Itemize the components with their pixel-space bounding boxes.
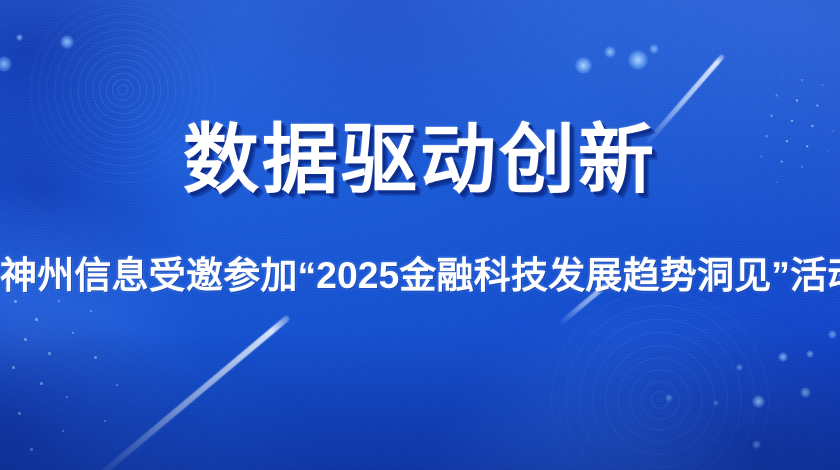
promo-banner: 数据驱动创新 神州信息受邀参加“2025金融科技发展趋势洞见”活动 [0,0,840,470]
banner-headline: 数据驱动创新 [0,117,840,205]
banner-subtitle: 神州信息受邀参加“2025金融科技发展趋势洞见”活动 [0,250,840,302]
banner-content: 数据驱动创新 神州信息受邀参加“2025金融科技发展趋势洞见”活动 [0,0,840,470]
